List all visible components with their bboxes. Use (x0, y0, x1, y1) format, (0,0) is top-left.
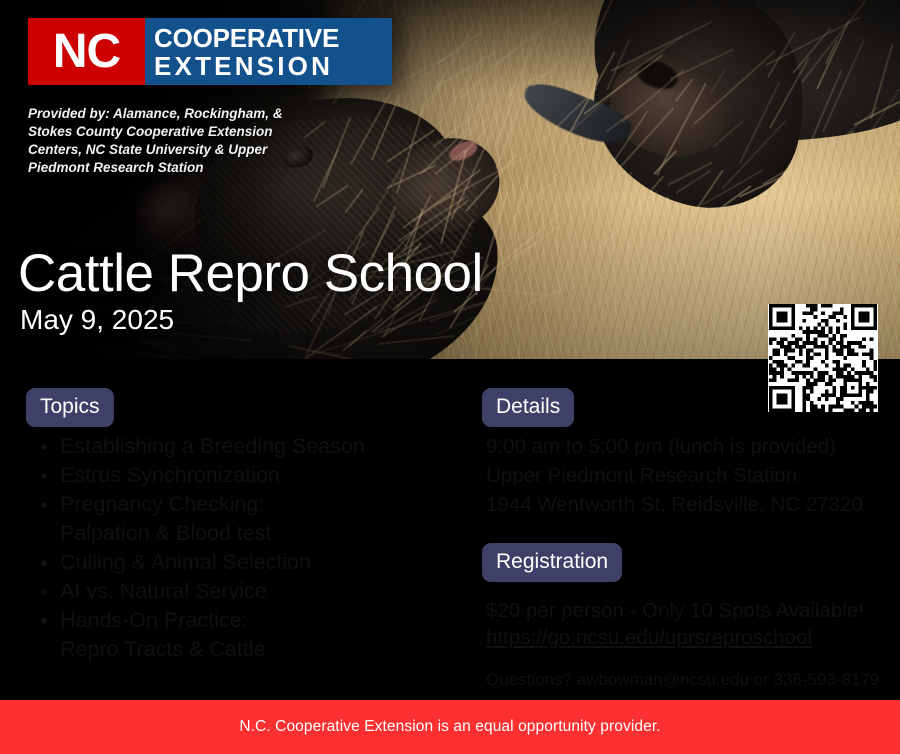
topics-list: Establishing a Breeding SeasonEstrus Syn… (28, 432, 448, 664)
topics-badge: Topics (26, 388, 114, 427)
nc-cooperative-extension-logo: NC COOPERATIVE EXTENSION (28, 18, 392, 85)
footer-bar: N.C. Cooperative Extension is an equal o… (0, 700, 900, 754)
registration-link[interactable]: https://go.ncsu.edu/uprsreproschool (486, 624, 812, 652)
details-time: 9:00 am to 5:00 pm (lunch is provided) (486, 432, 886, 461)
footer-text: N.C. Cooperative Extension is an equal o… (239, 718, 660, 736)
qr-code-icon[interactable] (768, 304, 878, 412)
topic-label: AI vs. Natural Service (60, 579, 267, 603)
registration-badge: Registration (482, 543, 622, 582)
logo-nc-block: NC (28, 18, 145, 85)
bullet-icon (41, 473, 47, 479)
registration-questions: Questions? awbowman@ncsu.edu or 336-593-… (486, 668, 879, 691)
details-venue: Upper Piedmont Research Station (486, 461, 886, 490)
topic-item: Establishing a Breeding Season (28, 432, 448, 461)
details-badge: Details (482, 388, 574, 427)
flyer: NC COOPERATIVE EXTENSION Provided by: Al… (0, 0, 900, 754)
topic-label: Establishing a Breeding Season (60, 434, 365, 458)
logo-extension-block: COOPERATIVE EXTENSION (145, 18, 392, 85)
topic-label: Hands-On Practice: (60, 608, 248, 632)
logo-nc-text: NC (53, 28, 120, 76)
bullet-icon (41, 618, 47, 624)
topic-label: Estrus Synchronization (60, 463, 280, 487)
bullet-icon (41, 502, 47, 508)
page-title: Cattle Repro School (18, 243, 483, 305)
bullet-icon (41, 560, 47, 566)
topic-item: Pregnancy Checking:Palpation & Blood tes… (28, 490, 448, 548)
topic-label: Pregnancy Checking: (60, 492, 264, 516)
topic-item: Culling & Animal Selection (28, 548, 448, 577)
topic-label-continued: Repro Tracts & Cattle (60, 635, 448, 664)
logo-line-cooperative: COOPERATIVE (154, 24, 392, 52)
details-text: 9:00 am to 5:00 pm (lunch is provided) U… (486, 432, 886, 519)
provided-by-text: Provided by: Alamance, Rockingham, & Sto… (28, 105, 318, 177)
details-address: 1944 Wentworth St, Reidsville, NC 27320 (486, 490, 886, 519)
registration-price: $20 per person - Only 10 Spots Available… (486, 597, 864, 625)
topic-label-continued: Palpation & Blood test (60, 519, 448, 548)
topic-item: AI vs. Natural Service (28, 577, 448, 606)
bullet-icon (41, 444, 47, 450)
topic-item: Estrus Synchronization (28, 461, 448, 490)
qr-code-svg (768, 304, 878, 412)
bullet-icon (41, 589, 47, 595)
topic-label: Culling & Animal Selection (60, 550, 311, 574)
event-date: May 9, 2025 (20, 303, 174, 337)
topic-item: Hands-On Practice:Repro Tracts & Cattle (28, 606, 448, 664)
logo-line-extension: EXTENSION (154, 52, 392, 80)
